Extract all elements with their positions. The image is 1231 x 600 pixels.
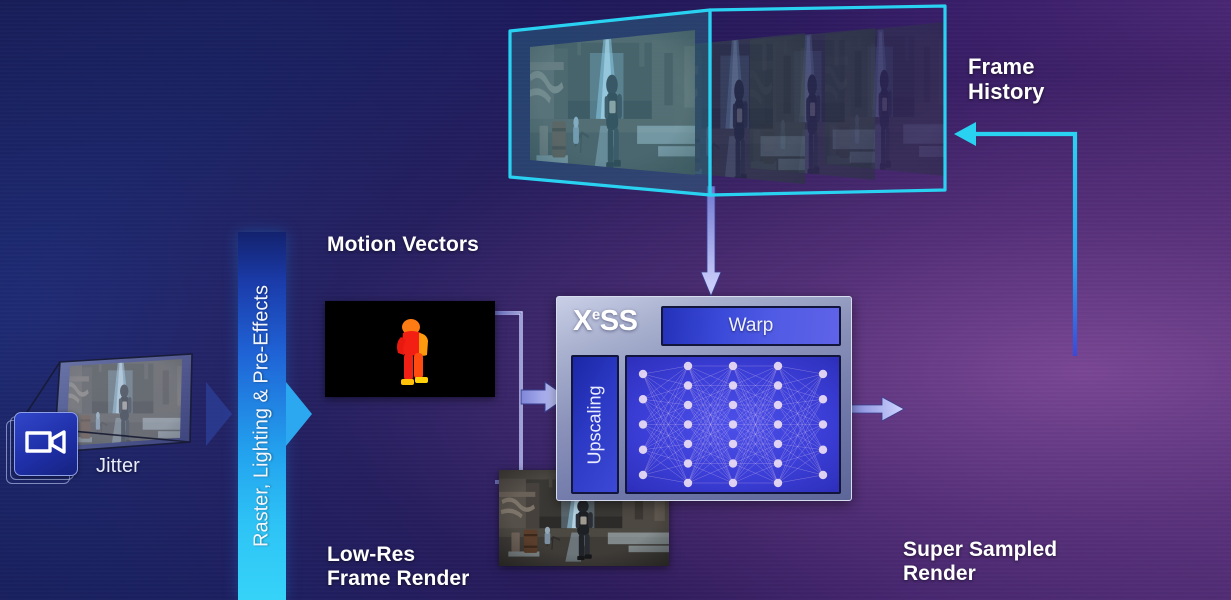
warp-block[interactable]: Warp: [661, 306, 841, 346]
neural-network-block: [625, 355, 841, 494]
motion-vectors-label: Motion Vectors: [327, 233, 479, 257]
arrow-output-to-frame-history: [940, 118, 1085, 358]
xess-logo-x: X: [573, 305, 592, 337]
xess-logo-ss: SS: [600, 305, 638, 337]
raster-lighting-stage-bar: Raster, Lighting & Pre-Effects: [238, 232, 286, 600]
xess-logo-e: e: [592, 306, 600, 323]
jitter-label: Jitter: [96, 455, 140, 477]
upscaling-block[interactable]: Upscaling: [571, 355, 619, 494]
xess-pipeline-diagram: Frame History Jitter: [0, 0, 1231, 600]
warp-label: Warp: [729, 315, 774, 337]
xess-logo: XeSS: [573, 305, 637, 338]
motion-vectors-thumbnail: [325, 301, 495, 397]
upscaling-label: Upscaling: [585, 385, 606, 464]
raster-stage-label: Raster, Lighting & Pre-Effects: [251, 285, 274, 547]
jitter-group: [0, 340, 215, 510]
arrow-xess-to-output: [848, 396, 906, 422]
low-res-frame-label: Low-Res Frame Render: [327, 543, 469, 590]
frame-history-label: Frame History: [968, 55, 1045, 104]
xess-processing-block: XeSS Warp Upscaling: [556, 296, 852, 501]
frame-history-box: [495, 0, 955, 205]
raster-chevron-arrow: [286, 382, 312, 446]
super-sampled-render-label: Super Sampled Render: [903, 538, 1057, 585]
neural-network-graphic: [627, 357, 839, 492]
video-camera-icon: [14, 412, 78, 476]
